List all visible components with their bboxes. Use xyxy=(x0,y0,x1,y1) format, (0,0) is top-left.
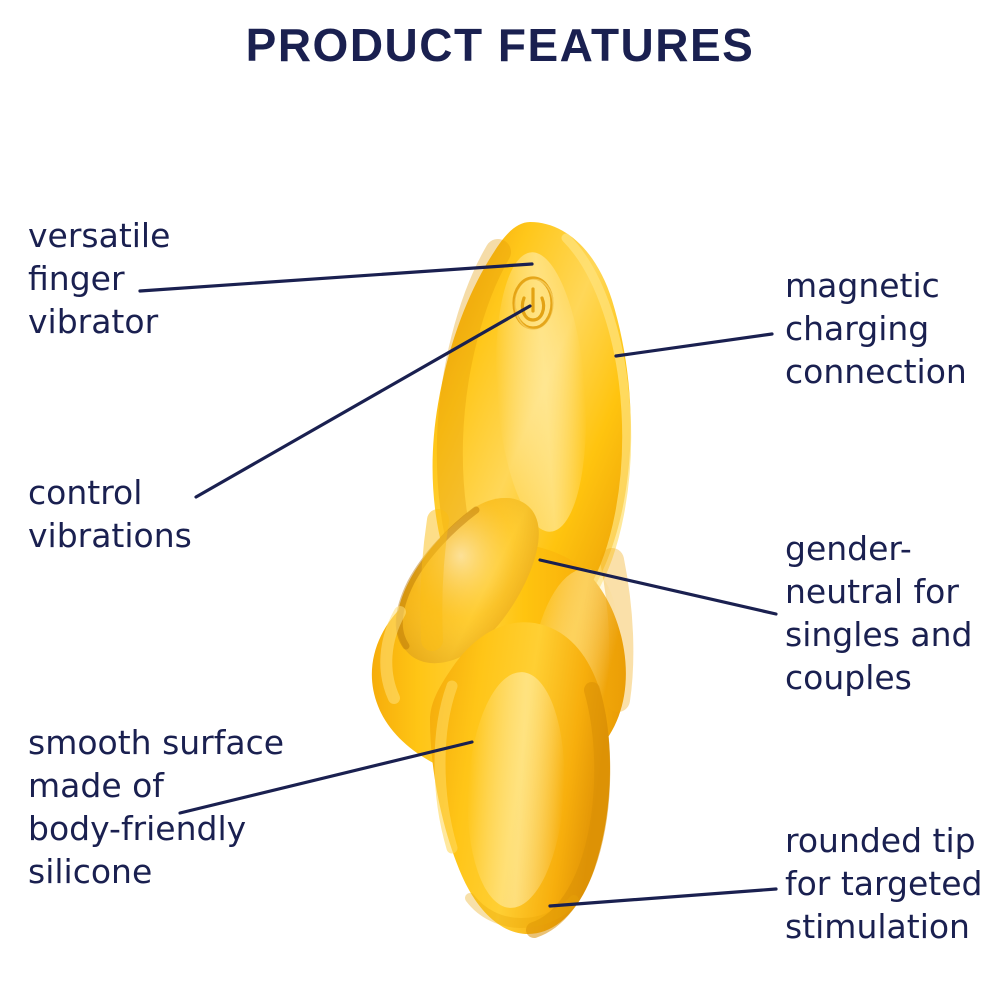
page-title: PRODUCT FEATURES xyxy=(0,18,1000,72)
product-body xyxy=(372,498,630,784)
product-tip xyxy=(430,622,610,934)
callout-control-vibrations: control vibrations xyxy=(28,472,192,558)
callout-magnetic-charging-connection: magnetic charging connection xyxy=(785,265,967,394)
leader-line-control xyxy=(196,306,530,497)
product-head xyxy=(433,222,631,641)
power-button-icon[interactable] xyxy=(514,278,553,330)
callout-smooth-surface-silicone: smooth surface made of body-friendly sil… xyxy=(28,722,284,894)
product-features-infographic: PRODUCT FEATURES xyxy=(0,0,1000,1000)
leader-line-versatile xyxy=(140,264,532,291)
callout-versatile-finger-vibrator: versatile finger vibrator xyxy=(28,215,170,344)
leader-line-magnetic xyxy=(616,334,772,356)
leader-line-gender xyxy=(540,560,776,614)
callout-rounded-tip: rounded tip for targeted stimulation xyxy=(785,820,982,949)
leader-line-rounded xyxy=(550,889,776,906)
callout-gender-neutral: gender- neutral for singles and couples xyxy=(785,528,972,700)
